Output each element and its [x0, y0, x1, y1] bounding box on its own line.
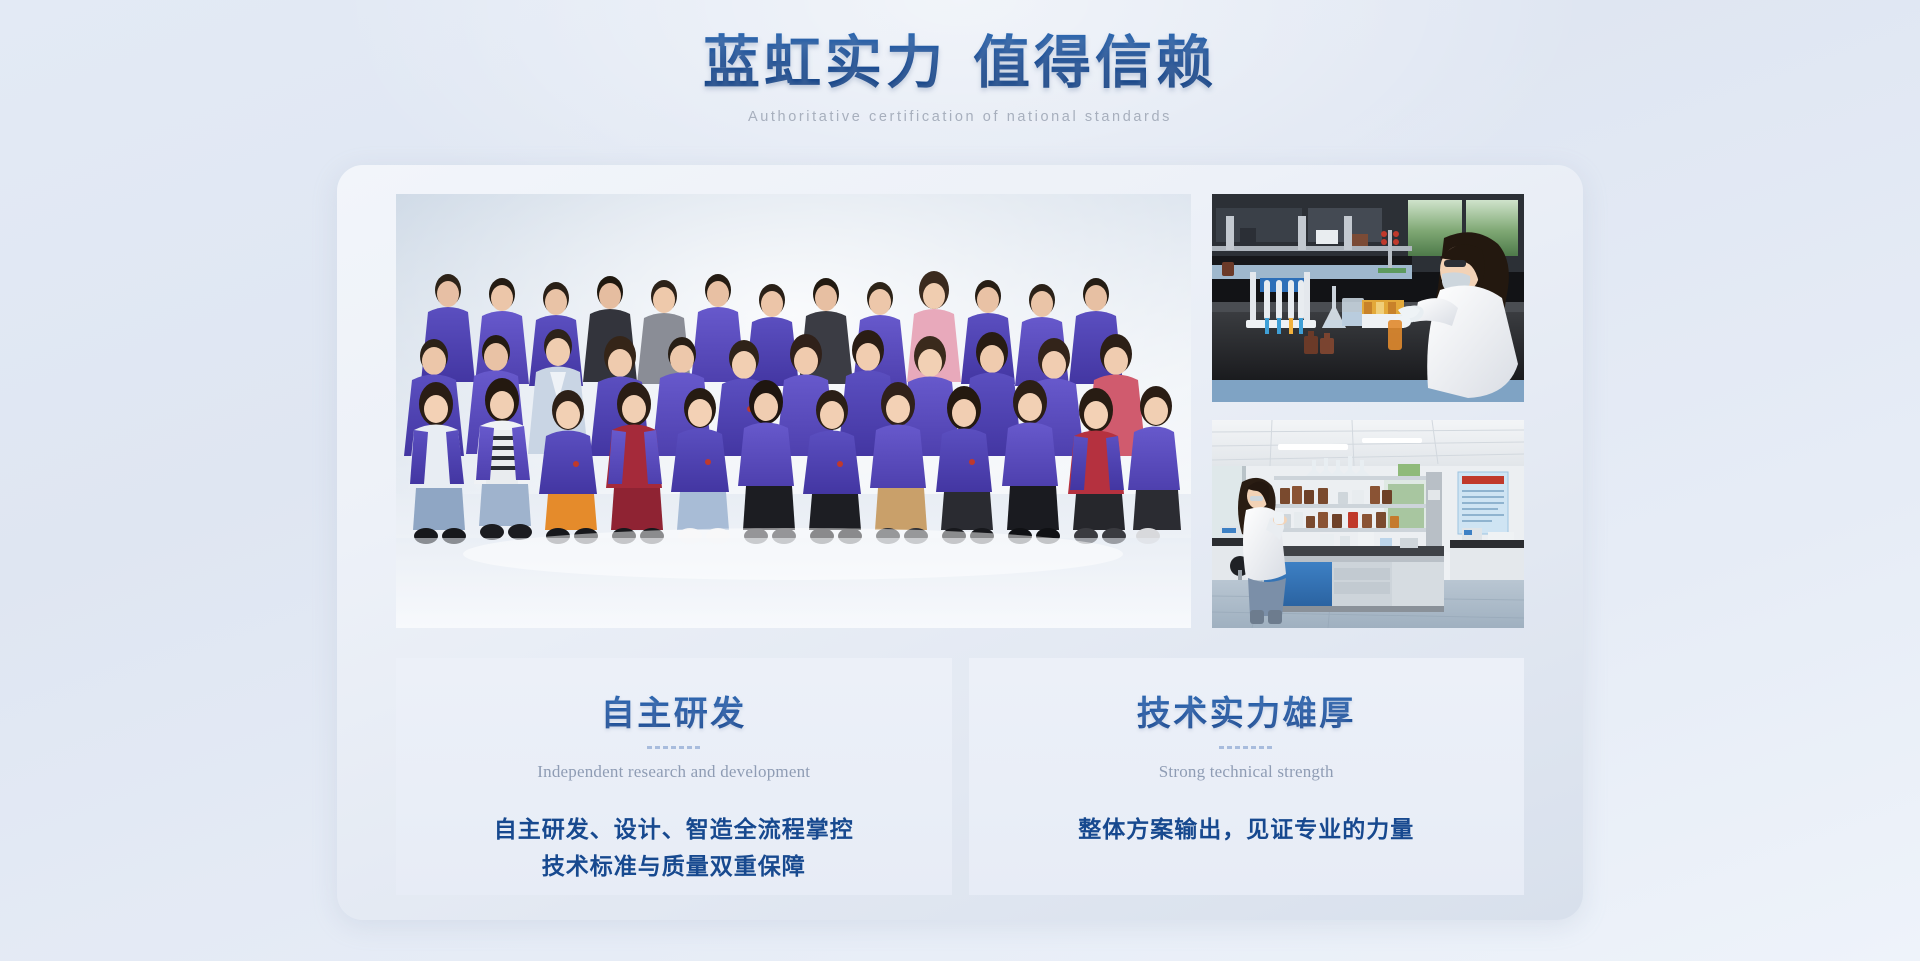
card-divider-dashed — [647, 746, 701, 749]
media-row — [396, 194, 1524, 628]
card-body-line-2: 技术标准与质量双重保障 — [494, 848, 854, 885]
card-divider-dashed — [1219, 746, 1273, 749]
page-title: 蓝虹实力值得信赖 — [703, 28, 1217, 99]
lab-technician-photo — [1212, 194, 1524, 402]
page-header: 蓝虹实力值得信赖 Authoritative certification of … — [0, 28, 1920, 125]
lab-technician-illustration — [1212, 194, 1524, 402]
page-title-part1: 蓝虹实力 — [703, 32, 947, 95]
feature-card-technical-strength: 技术实力雄厚 Strong technical strength 整体方案输出，… — [969, 658, 1525, 895]
laboratory-interior-photo — [1212, 420, 1524, 628]
card-english-subtitle: Strong technical strength — [1159, 762, 1334, 782]
group-photo — [396, 194, 1191, 628]
card-body-text: 自主研发、设计、智造全流程掌控 技术标准与质量双重保障 — [494, 811, 854, 886]
panel-inner: 自主研发 Independent research and developmen… — [337, 165, 1583, 920]
card-body-text: 整体方案输出，见证专业的力量 — [1078, 811, 1414, 848]
laboratory-interior-illustration — [1212, 420, 1524, 628]
card-body-line-1: 自主研发、设计、智造全流程掌控 — [494, 811, 854, 848]
feature-cards: 自主研发 Independent research and developmen… — [396, 658, 1524, 895]
page-subtitle: Authoritative certification of national … — [0, 109, 1920, 125]
lab-photo-column — [1212, 194, 1524, 628]
card-body-line-1: 整体方案输出，见证专业的力量 — [1078, 811, 1414, 848]
card-title: 自主研发 — [601, 686, 747, 735]
page-title-part2: 值得信赖 — [973, 32, 1217, 95]
card-english-subtitle: Independent research and development — [537, 762, 810, 782]
feature-card-independent-rd: 自主研发 Independent research and developmen… — [396, 658, 952, 895]
card-title: 技术实力雄厚 — [1137, 686, 1356, 735]
content-panel: 自主研发 Independent research and developmen… — [337, 165, 1583, 920]
group-photo-illustration — [396, 194, 1191, 628]
